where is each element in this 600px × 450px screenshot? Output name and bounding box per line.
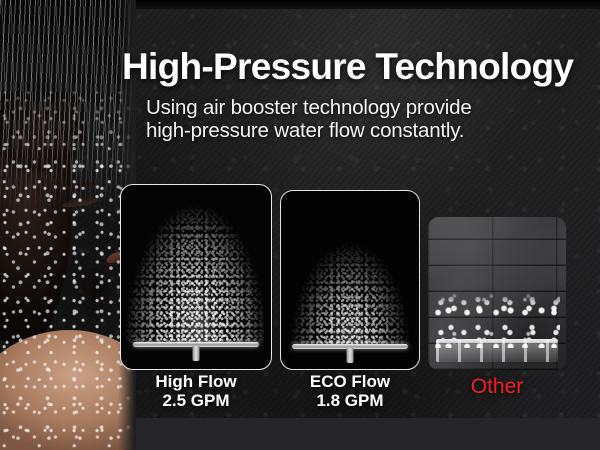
caption-other: Other — [428, 375, 566, 398]
hero-photo — [0, 0, 136, 450]
caption-label: ECO Flow — [310, 372, 390, 391]
shower-head-stem — [347, 348, 354, 363]
caption-label: High Flow — [155, 372, 236, 391]
water-spray-medium — [281, 191, 419, 345]
caption-eco-flow: ECO Flow 1.8 GPM — [278, 373, 422, 410]
caption-label: Other — [471, 375, 524, 398]
shower-head-stem — [193, 346, 200, 361]
comparison-panel-high-flow — [120, 184, 272, 370]
shower-head-base — [436, 340, 558, 362]
subheading-line-1: Using air booster technology provide — [146, 96, 472, 119]
caption-value: 1.8 GPM — [278, 392, 422, 411]
comparison-panel-other — [428, 217, 566, 370]
caption-high-flow: High Flow 2.5 GPM — [120, 373, 272, 410]
subheading-line-2: high-pressure water flow constantly. — [146, 119, 464, 142]
falling-water-streaks — [0, 0, 136, 215]
comparison-panel-eco-flow — [280, 190, 420, 370]
page-title: High-Pressure Technology — [122, 48, 592, 86]
promo-banner: High-Pressure Technology Using air boost… — [0, 0, 600, 450]
subheading: Using air booster technology provide hig… — [146, 96, 586, 142]
water-spray-dense — [121, 185, 271, 343]
caption-value: 2.5 GPM — [120, 392, 272, 411]
